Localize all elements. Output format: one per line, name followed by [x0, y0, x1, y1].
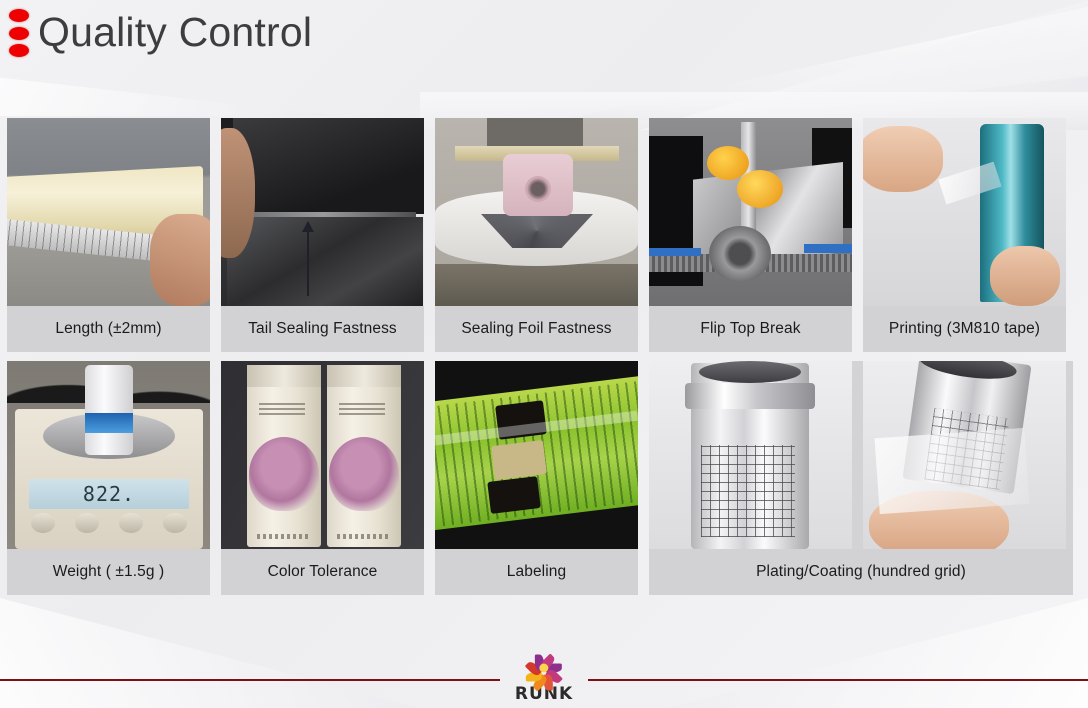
brand-logo: RUNK	[515, 650, 573, 704]
qc-item-tail-sealing[interactable]: Tail Sealing Fastness	[221, 118, 424, 352]
photo-plating-tape	[863, 361, 1066, 549]
qc-item-plating-coating[interactable]: Plating/Coating (hundred grid)	[649, 361, 1073, 595]
caption-tail-sealing: Tail Sealing Fastness	[221, 306, 424, 352]
caption-printing: Printing (3M810 tape)	[863, 306, 1066, 352]
red-dot-icon	[9, 44, 29, 57]
photo-color-tolerance	[221, 361, 424, 549]
qc-item-flip-top-break[interactable]: Flip Top Break	[649, 118, 852, 352]
slide-footer: RUNK	[0, 652, 1088, 708]
caption-color-tolerance: Color Tolerance	[221, 549, 424, 595]
photo-sealing-foil	[435, 118, 638, 306]
photo-weight: 822.	[7, 361, 210, 549]
quality-control-grid: Length (±2mm) Tail Sealing Fastness Seal…	[7, 118, 1081, 595]
caption-sealing-foil: Sealing Foil Fastness	[435, 306, 638, 352]
photo-pair-plating-coating	[649, 361, 1073, 549]
page-title: Quality Control	[38, 6, 312, 58]
caption-plating-coating: Plating/Coating (hundred grid)	[649, 549, 1073, 595]
grid-row: 822. Weight ( ±1.5g ) Color Tolerance	[7, 361, 1081, 595]
photo-labeling	[435, 361, 638, 549]
qc-item-color-tolerance[interactable]: Color Tolerance	[221, 361, 424, 595]
caption-length: Length (±2mm)	[7, 306, 210, 352]
qc-item-printing[interactable]: Printing (3M810 tape)	[863, 118, 1066, 352]
footer-rule-left	[0, 679, 500, 681]
caption-flip-top-break: Flip Top Break	[649, 306, 852, 352]
footer-rule-right	[588, 679, 1088, 681]
scale-display-value: 822.	[83, 482, 135, 506]
red-dot-icon	[9, 27, 29, 40]
slide-header: Quality Control	[0, 0, 1088, 100]
photo-plating-grid	[649, 361, 852, 549]
qc-item-sealing-foil[interactable]: Sealing Foil Fastness	[435, 118, 638, 352]
pinwheel-logo-icon	[524, 650, 564, 686]
caption-labeling: Labeling	[435, 549, 638, 595]
bullet-dots-decoration	[6, 9, 32, 57]
photo-tail-sealing	[221, 118, 424, 306]
red-dot-icon	[9, 9, 29, 22]
qc-item-labeling[interactable]: Labeling	[435, 361, 638, 595]
photo-length	[7, 118, 210, 306]
photo-flip-top-break	[649, 118, 852, 306]
photo-printing	[863, 118, 1066, 306]
grid-row: Length (±2mm) Tail Sealing Fastness Seal…	[7, 118, 1081, 352]
qc-item-weight[interactable]: 822. Weight ( ±1.5g )	[7, 361, 210, 595]
qc-item-length[interactable]: Length (±2mm)	[7, 118, 210, 352]
caption-weight: Weight ( ±1.5g )	[7, 549, 210, 595]
